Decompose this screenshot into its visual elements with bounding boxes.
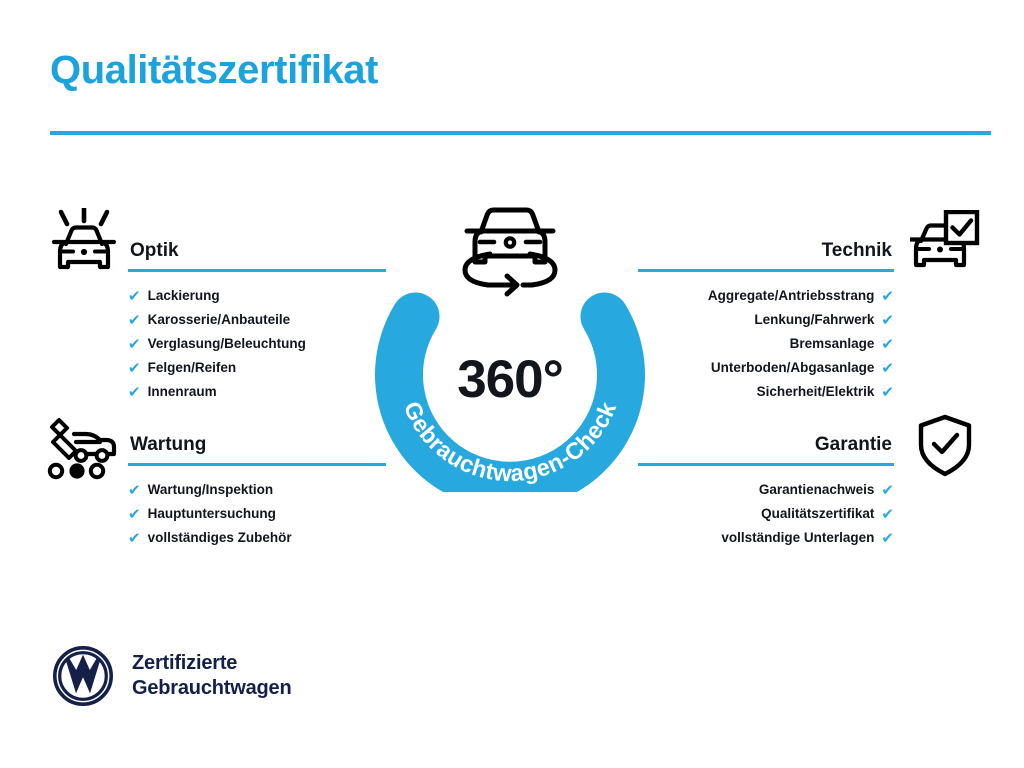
list-item-label: Hauptuntersuchung <box>148 502 276 526</box>
list-item: vollständige Unterlagen ✔ <box>638 526 894 550</box>
list-item: Aggregate/Antriebsstrang ✔ <box>638 284 894 308</box>
check-icon: ✔ <box>128 313 141 328</box>
section-optik-header: Optik <box>128 238 386 272</box>
check-icon: ✔ <box>128 531 141 546</box>
vw-logo-icon <box>52 645 114 707</box>
list-item-label: Bremsanlage <box>790 332 875 356</box>
car-rotation-icon <box>457 192 563 298</box>
section-technik-header: Technik <box>638 238 894 272</box>
list-item: ✔ vollständiges Zubehör <box>128 526 386 550</box>
section-wartung-divider <box>128 463 386 466</box>
section-optik-list: ✔ Lackierung ✔ Karosserie/Anbauteile ✔ V… <box>128 284 386 404</box>
section-garantie: Garantie Garantienachweis ✔ Qualitätszer… <box>638 432 894 566</box>
check-icon: ✔ <box>881 289 894 304</box>
list-item-label: Sicherheit/Elektrik <box>757 380 875 404</box>
section-garantie-list: Garantienachweis ✔ Qualitätszertifikat ✔… <box>638 478 894 550</box>
check-icon: ✔ <box>881 385 894 400</box>
list-item-label: Lenkung/Fahrwerk <box>754 308 874 332</box>
list-item: ✔ Karosserie/Anbauteile <box>128 308 386 332</box>
list-item: ✔ Felgen/Reifen <box>128 356 386 380</box>
section-optik-title: Optik <box>128 238 386 264</box>
car-checkbox-icon <box>910 210 980 279</box>
page-title: Qualitätszertifikat <box>50 48 378 92</box>
check-icon: ✔ <box>881 483 894 498</box>
list-item: ✔ Wartung/Inspektion <box>128 478 386 502</box>
list-item: ✔ Innenraum <box>128 380 386 404</box>
footer-line-1: Zertifizierte <box>132 651 291 676</box>
section-optik: Optik ✔ Lackierung ✔ Karosserie/Anbautei… <box>128 238 386 420</box>
list-item: Lenkung/Fahrwerk ✔ <box>638 308 894 332</box>
check-icon: ✔ <box>128 385 141 400</box>
list-item-label: Qualitätszertifikat <box>761 502 874 526</box>
section-optik-divider <box>128 269 386 272</box>
section-technik-title: Technik <box>638 238 894 264</box>
section-garantie-title: Garantie <box>638 432 894 458</box>
check-icon: ✔ <box>881 361 894 376</box>
list-item-label: Wartung/Inspektion <box>148 478 274 502</box>
list-item-label: Felgen/Reifen <box>148 356 237 380</box>
section-garantie-header: Garantie <box>638 432 894 466</box>
car-service-tool-icon <box>42 414 120 485</box>
section-technik-list: Aggregate/Antriebsstrang ✔ Lenkung/Fahrw… <box>638 284 894 404</box>
footer-logo: Zertifizierte Gebrauchtwagen <box>52 645 291 707</box>
section-wartung-title: Wartung <box>128 432 386 458</box>
list-item-label: vollständige Unterlagen <box>721 526 874 550</box>
check-icon: ✔ <box>128 507 141 522</box>
footer-line-2: Gebrauchtwagen <box>132 676 291 701</box>
list-item: Unterboden/Abgasanlage ✔ <box>638 356 894 380</box>
list-item-label: Verglasung/Beleuchtung <box>148 332 306 356</box>
list-item-label: Aggregate/Antriebsstrang <box>708 284 875 308</box>
check-icon: ✔ <box>128 483 141 498</box>
check-icon: ✔ <box>128 337 141 352</box>
section-wartung-header: Wartung <box>128 432 386 466</box>
check-icon: ✔ <box>128 289 141 304</box>
list-item-label: Innenraum <box>148 380 217 404</box>
footer-text: Zertifizierte Gebrauchtwagen <box>132 651 291 701</box>
section-technik: Technik Aggregate/Antriebsstrang ✔ Lenku… <box>638 238 894 420</box>
section-technik-divider <box>638 269 894 272</box>
shield-check-icon <box>916 414 974 483</box>
list-item: Bremsanlage ✔ <box>638 332 894 356</box>
list-item: ✔ Hauptuntersuchung <box>128 502 386 526</box>
list-item: ✔ Lackierung <box>128 284 386 308</box>
section-wartung-list: ✔ Wartung/Inspektion ✔ Hauptuntersuchung… <box>128 478 386 550</box>
check-icon: ✔ <box>128 361 141 376</box>
check-icon: ✔ <box>881 507 894 522</box>
list-item-label: Lackierung <box>148 284 220 308</box>
check-icon: ✔ <box>881 313 894 328</box>
check-icon: ✔ <box>881 531 894 546</box>
list-item-label: Unterboden/Abgasanlage <box>711 356 875 380</box>
badge-number: 360° <box>374 353 646 406</box>
list-item: Qualitätszertifikat ✔ <box>638 502 894 526</box>
list-item-label: Garantienachweis <box>759 478 875 502</box>
header-divider <box>50 131 991 135</box>
list-item: Sicherheit/Elektrik ✔ <box>638 380 894 404</box>
check-icon: ✔ <box>881 337 894 352</box>
list-item-label: Karosserie/Anbauteile <box>148 308 291 332</box>
360-check-badge: Gebrauchtwagen-Check 360° <box>374 192 646 492</box>
car-shine-icon <box>48 208 120 279</box>
quality-certificate-page: { "header": { "title": "Qualitätszertifi… <box>0 0 1024 768</box>
list-item: Garantienachweis ✔ <box>638 478 894 502</box>
list-item: ✔ Verglasung/Beleuchtung <box>128 332 386 356</box>
section-wartung: Wartung ✔ Wartung/Inspektion ✔ Hauptunte… <box>128 432 386 566</box>
list-item-label: vollständiges Zubehör <box>148 526 292 550</box>
section-garantie-divider <box>638 463 894 466</box>
